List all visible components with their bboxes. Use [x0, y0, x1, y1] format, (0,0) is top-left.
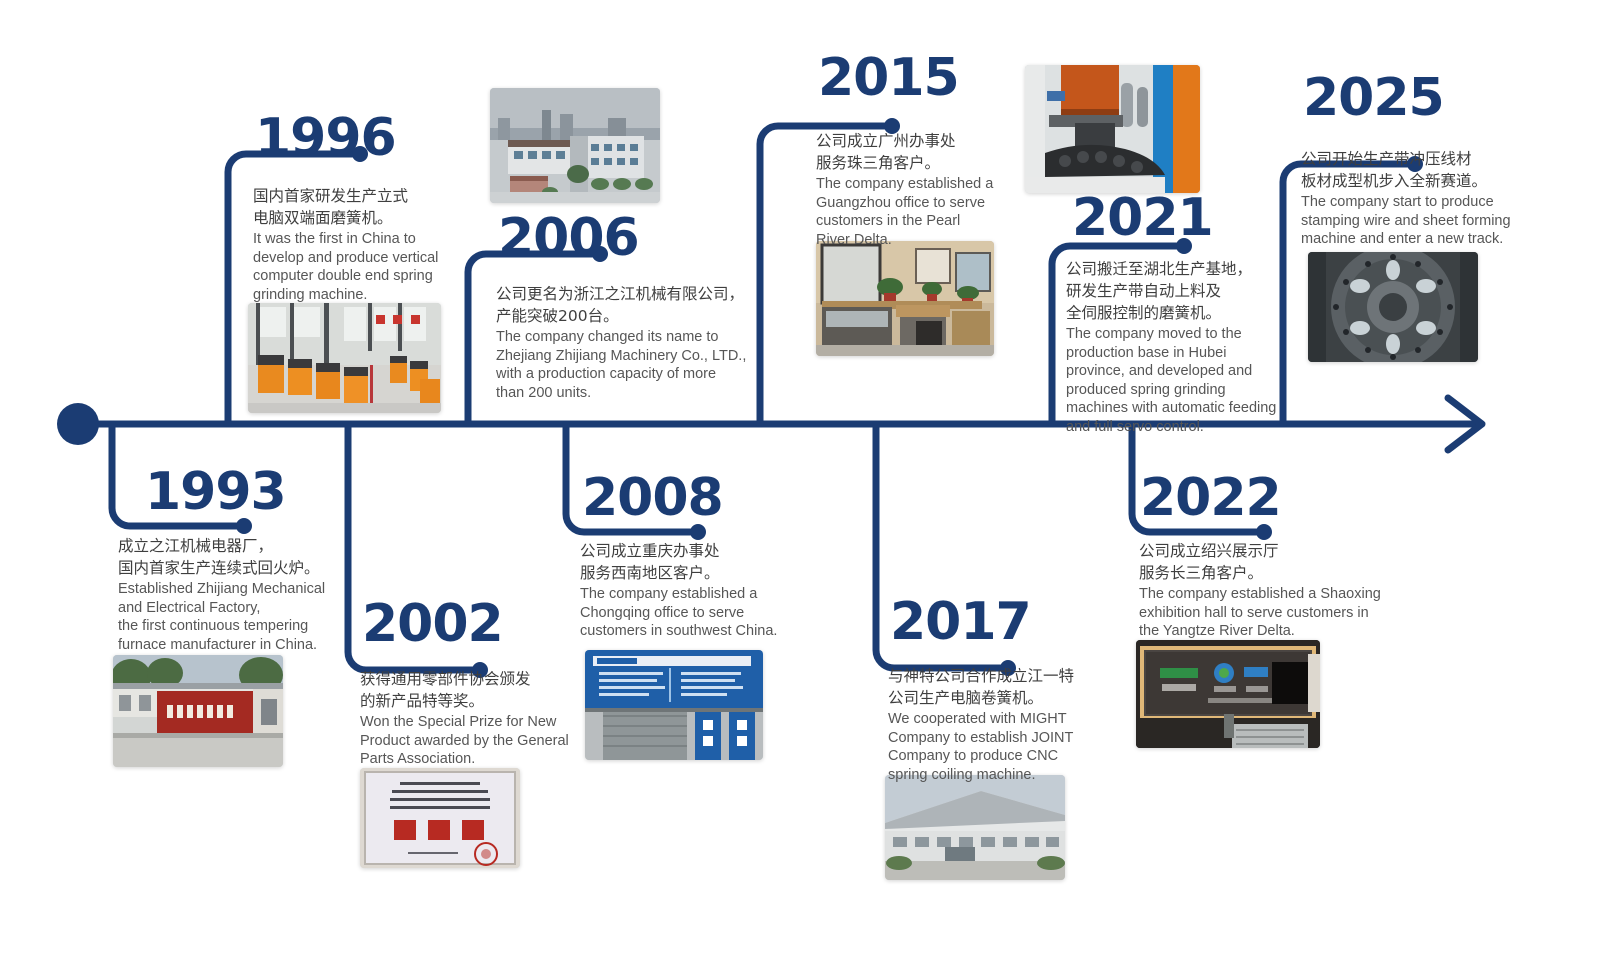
- event-cn-2021: 公司搬迁至湖北生产基地， 研发生产带自动上料及 全伺服控制的磨簧机。: [1066, 258, 1288, 324]
- event-2015: 2015: [818, 52, 1018, 104]
- event-desc-1993: 成立之江机械电器厂， 国内首家生产连续式回火炉。 Established Zhi…: [118, 535, 333, 654]
- timeline-arrow-icon: [1448, 398, 1482, 450]
- photo-plant-building-exterior: [885, 775, 1065, 880]
- photo-exhibition-hall-logo-wall: [1136, 640, 1320, 748]
- event-desc-2021: 公司搬迁至湖北生产基地， 研发生产带自动上料及 全伺服控制的磨簧机。 The c…: [1066, 258, 1288, 436]
- event-en-2015: The company established a Guangzhou offi…: [816, 175, 1016, 249]
- event-desc-2025: 公司开始生产带冲压线材 板材成型机步入全新赛道。 The company sta…: [1301, 148, 1516, 249]
- event-en-2002: Won the Special Prize for New Product aw…: [360, 713, 585, 769]
- timeline-infographic: 1996 国内首家研发生产立式 电脑双端面磨簧机。 It was the fir…: [0, 0, 1600, 959]
- photo-award-certificate: [360, 768, 520, 868]
- event-en-2025: The company start to produce stamping wi…: [1301, 193, 1516, 249]
- event-cn-1996: 国内首家研发生产立式 电脑双端面磨簧机。: [253, 185, 458, 229]
- event-1993: 1993: [145, 466, 345, 518]
- event-en-1993: Established Zhijiang Mechanical and Elec…: [118, 580, 333, 654]
- event-cn-2015: 公司成立广州办事处 服务珠三角客户。: [816, 130, 1016, 174]
- photo-rotary-tooling-disc: [1308, 252, 1478, 362]
- event-en-2021: The company moved to the production base…: [1066, 325, 1288, 436]
- event-year-2025: 2025: [1303, 72, 1503, 124]
- event-year-2021: 2021: [1072, 192, 1272, 244]
- event-en-1996: It was the first in China to develop and…: [253, 230, 458, 304]
- event-desc-2002: 获得通用零部件协会颁发 的新产品特等奖。 Won the Special Pri…: [360, 668, 585, 769]
- event-cn-2008: 公司成立重庆办事处 服务西南地区客户。: [580, 540, 805, 584]
- event-cn-2025: 公司开始生产带冲压线材 板材成型机步入全新赛道。: [1301, 148, 1516, 192]
- event-year-2017: 2017: [890, 596, 1090, 648]
- event-en-2006: The company changed its name to Zhejiang…: [496, 328, 751, 402]
- event-desc-1996: 国内首家研发生产立式 电脑双端面磨簧机。 It was the first in…: [253, 185, 458, 304]
- photo-workshop-orange-machines: [248, 303, 441, 413]
- event-2006: 2006: [498, 212, 698, 264]
- event-desc-2022: 公司成立绍兴展示厅 服务长三角客户。 The company establish…: [1139, 540, 1394, 641]
- event-desc-2015: 公司成立广州办事处 服务珠三角客户。 The company establish…: [816, 130, 1016, 249]
- event-year-2006: 2006: [498, 212, 698, 264]
- event-desc-2017: 与神特公司合作成立江一特 公司生产电脑卷簧机。 We cooperated wi…: [888, 665, 1098, 784]
- event-cn-2002: 获得通用零部件协会颁发 的新产品特等奖。: [360, 668, 585, 712]
- event-desc-2006: 公司更名为浙江之江机械有限公司， 产能突破200台。 The company c…: [496, 283, 751, 402]
- event-en-2022: The company established a Shaoxing exhib…: [1139, 585, 1394, 641]
- event-cn-2022: 公司成立绍兴展示厅 服务长三角客户。: [1139, 540, 1394, 584]
- timeline-start-node: [57, 403, 99, 445]
- event-2008: 2008: [582, 472, 782, 524]
- event-year-2022: 2022: [1140, 472, 1340, 524]
- event-2021: 2021: [1072, 192, 1272, 244]
- event-year-2015: 2015: [818, 52, 1018, 104]
- photo-office-interior-desks: [816, 241, 994, 356]
- event-en-2017: We cooperated with MIGHT Company to esta…: [888, 710, 1098, 784]
- event-2002: 2002: [362, 598, 562, 650]
- photo-office-storefront-banner: [585, 650, 763, 760]
- event-cn-1993: 成立之江机械电器厂， 国内首家生产连续式回火炉。: [118, 535, 333, 579]
- event-cn-2017: 与神特公司合作成立江一特 公司生产电脑卷簧机。: [888, 665, 1098, 709]
- event-en-2008: The company established a Chongqing offi…: [580, 585, 805, 641]
- photo-machine-closeup-orange: [1025, 65, 1200, 193]
- photo-factory-aerial-view: [490, 88, 660, 203]
- photo-factory-gate-red-wall: [113, 655, 283, 767]
- event-year-1993: 1993: [145, 466, 345, 518]
- event-2017: 2017: [890, 596, 1090, 648]
- event-year-2008: 2008: [582, 472, 782, 524]
- event-1996: 1996: [255, 112, 455, 164]
- event-desc-2008: 公司成立重庆办事处 服务西南地区客户。 The company establis…: [580, 540, 805, 641]
- event-year-1996: 1996: [255, 112, 455, 164]
- event-2025: 2025: [1303, 72, 1503, 124]
- event-2022: 2022: [1140, 472, 1340, 524]
- event-cn-2006: 公司更名为浙江之江机械有限公司， 产能突破200台。: [496, 283, 751, 327]
- event-year-2002: 2002: [362, 598, 562, 650]
